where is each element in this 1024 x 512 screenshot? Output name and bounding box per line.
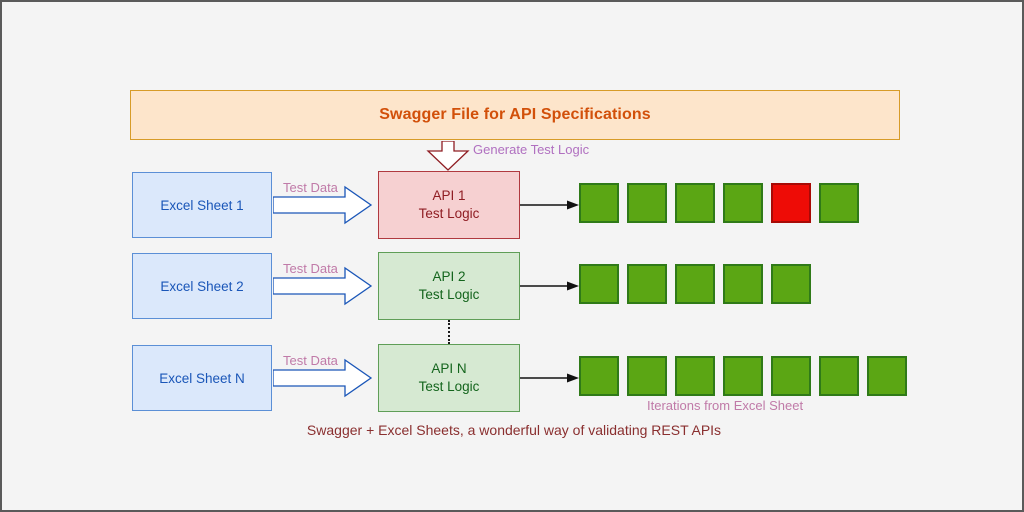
iteration-square-pass [867,356,907,396]
api-title-2: API 2 [432,268,465,286]
iteration-square-pass [723,183,763,223]
api-title-3: API N [431,360,466,378]
generate-test-logic-arrow-icon [426,141,470,171]
iteration-squares-row-3 [579,356,907,396]
iteration-square-fail [771,183,811,223]
api-to-iterations-arrow-icon-3 [520,371,580,383]
api-to-iterations-arrow-icon-2 [520,279,580,291]
excel-sheet-box-3[interactable]: Excel Sheet N [132,345,272,411]
swagger-file-box: Swagger File for API Specifications [130,90,900,140]
iteration-square-pass [579,264,619,304]
api-subtitle-1: Test Logic [419,205,480,223]
iteration-square-pass [579,183,619,223]
iteration-square-pass [819,183,859,223]
api-continuation-dotted-line [448,320,450,344]
api-title-1: API 1 [432,187,465,205]
excel-sheet-label-2: Excel Sheet 2 [160,279,243,294]
iteration-square-pass [723,356,763,396]
excel-sheet-box-2[interactable]: Excel Sheet 2 [132,253,272,319]
iteration-square-pass [627,356,667,396]
iteration-square-pass [627,264,667,304]
iteration-square-pass [675,183,715,223]
api-test-logic-box-3[interactable]: API N Test Logic [378,344,520,412]
test-data-arrow-icon-2 [273,266,373,306]
iteration-square-pass [819,356,859,396]
excel-sheet-label-1: Excel Sheet 1 [160,198,243,213]
excel-sheet-box-1[interactable]: Excel Sheet 1 [132,172,272,238]
iteration-square-pass [771,356,811,396]
iteration-square-pass [579,356,619,396]
api-test-logic-box-2[interactable]: API 2 Test Logic [378,252,520,320]
iteration-squares-row-1 [579,183,859,223]
api-to-iterations-arrow-icon-1 [520,198,580,210]
api-subtitle-3: Test Logic [419,378,480,396]
excel-sheet-label-3: Excel Sheet N [159,371,245,386]
iteration-square-pass [627,183,667,223]
test-data-arrow-icon-1 [273,185,373,225]
iteration-square-pass [675,264,715,304]
generate-test-logic-label: Generate Test Logic [473,142,589,157]
diagram-caption: Swagger + Excel Sheets, a wonderful way … [2,422,1024,438]
iteration-square-pass [675,356,715,396]
diagram-canvas: Swagger File for API Specifications Gene… [0,0,1024,512]
swagger-file-title: Swagger File for API Specifications [379,106,650,124]
api-subtitle-2: Test Logic [419,286,480,304]
iteration-square-pass [771,264,811,304]
iteration-square-pass [723,264,763,304]
iterations-from-excel-sheet-label: Iterations from Excel Sheet [647,398,803,413]
api-test-logic-box-1[interactable]: API 1 Test Logic [378,171,520,239]
iteration-squares-row-2 [579,264,811,304]
test-data-arrow-icon-3 [273,358,373,398]
